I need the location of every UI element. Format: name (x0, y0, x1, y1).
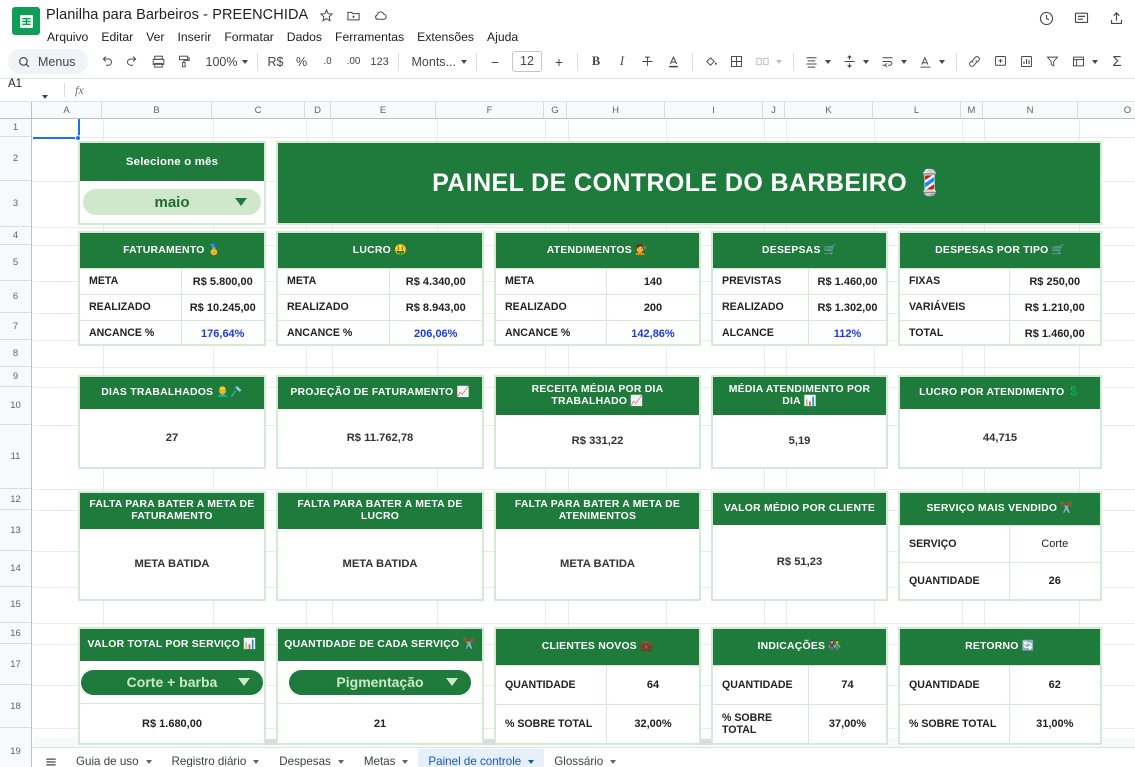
row-value: 140 (607, 269, 699, 294)
sheet-tab-metas[interactable]: Metas (354, 749, 419, 767)
card-despesas-por-tipo: DESPESAS POR TIPO 🛒 FIXASR$ 250,00 VARIÁ… (898, 231, 1102, 346)
chevron-down-icon[interactable] (42, 95, 48, 99)
card-value: R$ 11.762,78 (278, 409, 482, 467)
strikethrough-icon[interactable] (635, 49, 661, 75)
vertical-align-icon[interactable] (837, 49, 863, 75)
move-to-folder-icon[interactable] (345, 7, 362, 24)
card-title: LUCRO POR ATENDIMENTO 💲 (900, 377, 1100, 409)
dashboard-banner: PAINEL DE CONTROLE DO BARBEIRO 💈 (276, 141, 1102, 225)
card-title: FALTA PARA BATER A META DE FATURAMENTO (80, 493, 264, 529)
chevron-down-icon (238, 678, 250, 686)
column-header-O[interactable]: O (1078, 102, 1135, 118)
redo-icon[interactable] (120, 49, 146, 75)
filterviews-chevron-down-icon[interactable] (1092, 60, 1098, 64)
row-label: REALIZADO (278, 295, 390, 320)
card-title: DESPESAS POR TIPO 🛒 (900, 233, 1100, 268)
font-family-value: Monts... (412, 55, 456, 69)
row-value: 62 (1010, 666, 1101, 704)
row-label: VARIÁVEIS (900, 295, 1010, 320)
row-value: R$ 1.460,00 (809, 269, 886, 294)
row-value: 176,64% (182, 321, 265, 346)
row-label: PREVISTAS (713, 269, 809, 294)
chevron-down-icon[interactable] (528, 760, 534, 764)
card-projecao-faturamento: PROJEÇÃO DE FATURAMENTO 📈 R$ 11.762,78 (276, 375, 484, 469)
card-title: LUCRO 🤑 (278, 233, 482, 268)
selection-edge (33, 137, 78, 139)
font-size-value[interactable]: 12 (512, 51, 542, 72)
tab-label: Glossário (554, 755, 603, 767)
menu-dados[interactable]: Dados (287, 30, 322, 44)
card-title: DESEPSAS 🛒 (713, 233, 886, 268)
toolbar-divider-4 (577, 53, 578, 71)
card-value: META BATIDA (496, 529, 699, 599)
card-value: META BATIDA (80, 529, 264, 599)
row-label: QUANTIDADE (496, 666, 607, 704)
zoom-selector[interactable]: 100% (198, 55, 252, 69)
row-header-5[interactable]: 5 (0, 245, 31, 281)
font-size-increase-button[interactable]: + (546, 49, 572, 75)
insert-comment-icon[interactable] (988, 49, 1014, 75)
row-header-10[interactable]: 10 (0, 387, 31, 425)
menu-extensoes[interactable]: Extensões (417, 30, 474, 44)
card-title: CLIENTES NOVOS 💼 (496, 629, 699, 665)
service-selector-row: Corte + barba (80, 661, 264, 703)
row-header-8[interactable]: 8 (0, 340, 31, 367)
menus-label: Menus (38, 55, 76, 69)
card-indicacoes: INDICAÇÕES 👫 QUANTIDADE74 % SOBRE TOTAL3… (711, 627, 888, 745)
menu-arquivo[interactable]: Arquivo (47, 30, 88, 44)
menu-bar[interactable]: Arquivo Editar Ver Inserir Formatar Dado… (46, 30, 518, 44)
row-header-15[interactable]: 15 (0, 587, 31, 623)
column-header-M[interactable]: M (961, 102, 983, 118)
row-label: META (80, 269, 182, 294)
grid-body: 1 2 3 4 5 6 7 8 9 10 11 12 13 14 15 16 1… (0, 119, 1135, 747)
menus-search-button[interactable]: Menus (8, 49, 88, 74)
bold-button[interactable]: B (583, 49, 609, 75)
halign-chevron-down-icon[interactable] (825, 60, 831, 64)
tab-label: Painel de controle (428, 755, 521, 767)
more-formats-button[interactable]: 123 (367, 49, 393, 75)
tab-label: Registro diário (172, 755, 247, 767)
row-label: META (496, 269, 607, 294)
increase-decimal-button[interactable]: .00 (341, 49, 367, 75)
card-title: FATURAMENTO 🏅 (80, 233, 264, 268)
row-header-12[interactable]: 12 (0, 489, 31, 510)
row-value: 32,00% (607, 705, 699, 743)
row-header-1[interactable]: 1 (0, 119, 31, 137)
card-title: QUANTIDADE DE CADA SERVIÇO ✂️ (278, 629, 482, 661)
row-header-2[interactable]: 2 (0, 137, 31, 181)
card-falta-meta-faturamento: FALTA PARA BATER A META DE FATURAMENTO M… (78, 491, 266, 601)
name-box-value: A1 (8, 78, 22, 90)
toolbar-divider-3 (476, 53, 477, 71)
font-family-selector[interactable]: Monts... (404, 55, 471, 69)
sheet-tab-despesas[interactable]: Despesas (269, 749, 354, 767)
row-header-18[interactable]: 18 (0, 685, 31, 728)
card-title: FALTA PARA BATER A META DE LUCRO (278, 493, 482, 529)
row-label: TOTAL (900, 321, 1010, 346)
card-faturamento: FATURAMENTO 🏅 METAR$ 5.800,00 REALIZADOR… (78, 231, 266, 346)
italic-button[interactable]: I (609, 49, 635, 75)
borders-icon[interactable] (724, 49, 750, 75)
menu-editar[interactable]: Editar (101, 30, 133, 44)
row-value: 112% (809, 321, 886, 346)
share-icon[interactable] (1108, 10, 1125, 27)
card-title: DIAS TRABALHADOS 👨‍🦲🪒 (80, 377, 264, 409)
card-value: 44,715 (900, 409, 1100, 467)
card-title: MÉDIA ATENDIMENTO POR DIA 📊 (713, 377, 886, 415)
tab-label: Despesas (279, 755, 331, 767)
google-sheets-logo[interactable] (12, 7, 40, 35)
column-header-B[interactable]: B (102, 102, 212, 118)
column-headers: A B C D E F G H I J K L M N O P (0, 102, 1135, 119)
sheet-tab-registro-diario[interactable]: Registro diário (162, 749, 270, 767)
name-box[interactable]: A1 (0, 78, 64, 102)
row-value: R$ 5.800,00 (182, 269, 265, 294)
increase-decimal-label: .00 (347, 56, 361, 67)
month-value: maio (154, 194, 189, 211)
row-value: R$ 1.302,00 (809, 295, 886, 320)
card-title: RETORNO 🔄 (900, 629, 1100, 665)
card-quantidade-cada-servico: QUANTIDADE DE CADA SERVIÇO ✂️ Pigmentaçã… (276, 627, 484, 745)
format-currency-button[interactable]: R$ (263, 49, 289, 75)
card-title: VALOR MÉDIO POR CLIENTE (713, 493, 886, 525)
row-label: SERVIÇO (900, 526, 1010, 562)
row-value: R$ 10.245,00 (182, 295, 265, 320)
document-title[interactable]: Planilha para Barbeiros - PREENCHIDA (46, 7, 308, 23)
toolbar-divider-6 (793, 53, 794, 71)
card-value: R$ 51,23 (713, 525, 886, 599)
sheet-tab-guia-de-uso[interactable]: Guia de uso (66, 749, 162, 767)
selection-handle[interactable] (75, 135, 81, 141)
rotation-chevron-down-icon[interactable] (939, 60, 945, 64)
column-header-C[interactable]: C (212, 102, 305, 118)
row-header-7[interactable]: 7 (0, 313, 31, 340)
card-media-atendimento-dia: MÉDIA ATENDIMENTO POR DIA 📊 5,19 (711, 375, 888, 469)
month-selector-card: Selecione o mês maio (78, 141, 266, 225)
month-selector-body: maio (80, 181, 264, 223)
menu-ferramentas[interactable]: Ferramentas (335, 30, 404, 44)
card-receita-media-dia: RECEITA MÉDIA POR DIA TRABALHADO 📈 R$ 33… (494, 375, 701, 469)
menu-formatar[interactable]: Formatar (224, 30, 273, 44)
row-headers: 1 2 3 4 5 6 7 8 9 10 11 12 13 14 15 16 1… (0, 119, 32, 767)
row-label: REALIZADO (80, 295, 182, 320)
card-title: FALTA PARA BATER A META DE ATENIMENTOS (496, 493, 699, 529)
row-value: R$ 1.460,00 (1010, 321, 1101, 346)
merge-cells-icon[interactable] (750, 49, 776, 75)
row-header-9[interactable]: 9 (0, 367, 31, 387)
menu-inserir[interactable]: Inserir (177, 30, 211, 44)
select-all-corner[interactable] (0, 102, 32, 118)
card-retorno: RETORNO 🔄 QUANTIDADE62 % SOBRE TOTAL31,0… (898, 627, 1102, 745)
menu-ver[interactable]: Ver (146, 30, 164, 44)
row-header-17[interactable]: 17 (0, 644, 31, 685)
decrease-decimal-button[interactable]: .0 (315, 49, 341, 75)
card-lucro-por-atendimento: LUCRO POR ATENDIMENTO 💲 44,715 (898, 375, 1102, 469)
toolbar-divider (257, 53, 258, 71)
all-sheets-icon[interactable] (36, 749, 66, 767)
row-label: ANCANCE % (496, 321, 607, 346)
card-dias-trabalhados: DIAS TRABALHADOS 👨‍🦲🪒 27 (78, 375, 266, 469)
row-header-13[interactable]: 13 (0, 510, 31, 551)
filter-icon[interactable] (1040, 49, 1066, 75)
service-value: Corte + barba (127, 674, 218, 690)
chevron-down-icon[interactable] (402, 760, 408, 764)
row-header-4[interactable]: 4 (0, 227, 31, 245)
row-value: Corte (1010, 526, 1101, 562)
top-right-actions (1038, 10, 1125, 27)
card-title: PROJEÇÃO DE FATURAMENTO 📈 (278, 377, 482, 409)
row-value: R$ 8.943,00 (390, 295, 483, 320)
row-label: QUANTIDADE (900, 666, 1010, 704)
row-value: R$ 4.340,00 (390, 269, 483, 294)
card-value: 5,19 (713, 415, 886, 467)
row-label: QUANTIDADE (900, 563, 1010, 599)
banner-title: PAINEL DE CONTROLE DO BARBEIRO 💈 (432, 169, 946, 198)
chevron-down-icon (235, 198, 247, 206)
row-value: 206,06% (390, 321, 483, 346)
card-value: R$ 1.680,00 (80, 704, 264, 743)
paint-format-icon[interactable] (172, 49, 198, 75)
row-value: 31,00% (1010, 705, 1101, 743)
row-label: ALCANCE (713, 321, 809, 346)
fill-color-icon[interactable] (698, 49, 724, 75)
horizontal-align-icon[interactable] (799, 49, 825, 75)
text-wrap-icon[interactable] (875, 49, 901, 75)
column-header-I[interactable]: I (665, 102, 763, 118)
card-title: RECEITA MÉDIA POR DIA TRABALHADO 📈 (496, 377, 699, 415)
row-label: META (278, 269, 390, 294)
row-value: R$ 250,00 (1010, 269, 1101, 294)
sheet-tab-glossario[interactable]: Glossário (544, 749, 626, 767)
row-label: % SOBRE TOTAL (496, 705, 607, 743)
insert-chart-icon[interactable] (1014, 49, 1040, 75)
card-clientes-novos: CLIENTES NOVOS 💼 QUANTIDADE64 % SOBRE TO… (494, 627, 701, 745)
chevron-down-icon[interactable] (146, 760, 152, 764)
column-header-A[interactable]: A (32, 102, 102, 118)
functions-button[interactable]: Σ (1104, 49, 1130, 75)
wrap-chevron-down-icon[interactable] (901, 60, 907, 64)
card-atendimentos: ATENDIMENTOS 💇 META140 REALIZADO200 ANCA… (494, 231, 701, 346)
row-header-14[interactable]: 14 (0, 551, 31, 587)
row-label: FIXAS (900, 269, 1010, 294)
decrease-decimal-label: .0 (323, 56, 331, 67)
row-header-19[interactable]: 19 (0, 728, 31, 767)
row-label: REALIZADO (713, 295, 809, 320)
formula-bar: A1 fx (0, 78, 1135, 102)
toolbar-divider-7 (956, 53, 957, 71)
row-label: REALIZADO (496, 295, 607, 320)
card-title: ATENDIMENTOS 💇 (496, 233, 699, 268)
card-value: 27 (80, 409, 264, 467)
font-size-stepper[interactable]: − 12 + (482, 49, 572, 75)
fx-icon: fx (65, 83, 94, 98)
chevron-down-icon (242, 60, 248, 64)
column-header-K[interactable]: K (785, 102, 873, 118)
row-header-11[interactable]: 11 (0, 425, 31, 489)
spreadsheet-grid: A B C D E F G H I J K L M N O P 1 2 3 4 … (0, 102, 1135, 747)
card-value: R$ 331,22 (496, 415, 699, 467)
column-header-F[interactable]: F (436, 102, 544, 118)
card-value: META BATIDA (278, 529, 482, 599)
month-dropdown[interactable]: maio (83, 189, 261, 215)
card-valor-medio-cliente: VALOR MÉDIO POR CLIENTE R$ 51,23 (711, 491, 888, 601)
sheet-tab-bar: + Guia de uso Registro diário Despesas M… (0, 747, 1135, 767)
tab-label: Guia de uso (76, 755, 139, 767)
card-title: INDICAÇÕES 👫 (713, 629, 886, 665)
version-history-icon[interactable] (1038, 10, 1055, 27)
card-valor-total-por-servico: VALOR TOTAL POR SERVIÇO 📊 Corte + barba … (78, 627, 266, 745)
row-label: % SOBRE TOTAL (713, 705, 809, 743)
row-value: R$ 1.210,00 (1010, 295, 1101, 320)
column-header-D[interactable]: D (305, 102, 331, 118)
font-size-decrease-button[interactable]: − (482, 49, 508, 75)
valign-chevron-down-icon[interactable] (863, 60, 869, 64)
zoom-value: 100% (206, 55, 238, 69)
card-lucro: LUCRO 🤑 METAR$ 4.340,00 REALIZADOR$ 8.94… (276, 231, 484, 346)
service-dropdown[interactable]: Corte + barba (81, 670, 263, 695)
chevron-down-icon (461, 60, 467, 64)
column-header-H[interactable]: H (567, 102, 665, 118)
chevron-down-icon (446, 678, 458, 686)
merge-chevron-down-icon[interactable] (776, 60, 782, 64)
card-falta-meta-lucro: FALTA PARA BATER A META DE LUCRO META BA… (276, 491, 484, 601)
row-label: % SOBRE TOTAL (900, 705, 1010, 743)
format-percent-button[interactable]: % (289, 49, 315, 75)
text-rotation-icon[interactable] (913, 49, 939, 75)
row-value: 142,86% (607, 321, 699, 346)
month-selector-title: Selecione o mês (80, 143, 264, 181)
service-selector-row: Pigmentação (278, 661, 482, 703)
row-label: ANCANCE % (80, 321, 182, 346)
chevron-down-icon[interactable] (338, 760, 344, 764)
tab-label: Metas (364, 755, 396, 767)
row-label: QUANTIDADE (713, 666, 809, 704)
column-header-J[interactable]: J (763, 102, 785, 118)
search-icon (17, 55, 31, 69)
row-header-3[interactable]: 3 (0, 181, 31, 227)
row-label: ANCANCE % (278, 321, 390, 346)
card-title: VALOR TOTAL POR SERVIÇO 📊 (80, 629, 264, 661)
toolbar-divider-5 (692, 53, 693, 71)
toolbar: Menus 100% R$ % .0 .00 123 Monts... − 12… (0, 45, 1135, 78)
insert-link-icon[interactable] (962, 49, 988, 75)
card-value: 21 (278, 704, 482, 743)
service-value: Pigmentação (336, 674, 423, 690)
row-header-6[interactable]: 6 (0, 281, 31, 313)
print-icon[interactable] (146, 49, 172, 75)
cloud-saved-icon[interactable] (372, 7, 389, 24)
card-falta-meta-atenimentos: FALTA PARA BATER A META DE ATENIMENTOS M… (494, 491, 701, 601)
comment-icon[interactable] (1073, 10, 1090, 27)
filter-views-icon[interactable] (1066, 49, 1092, 75)
column-header-G[interactable]: G (544, 102, 567, 118)
toolbar-divider-2 (398, 53, 399, 71)
sheet-tab-painel-de-controle[interactable]: Painel de controle (418, 749, 544, 767)
column-header-N[interactable]: N (983, 102, 1078, 118)
row-value: 200 (607, 295, 699, 320)
chevron-down-icon[interactable] (610, 760, 616, 764)
column-header-E[interactable]: E (331, 102, 436, 118)
title-bar: Planilha para Barbeiros - PREENCHIDA Arq… (0, 0, 1135, 45)
column-header-L[interactable]: L (873, 102, 961, 118)
menu-ajuda[interactable]: Ajuda (487, 30, 518, 44)
row-header-16[interactable]: 16 (0, 623, 31, 644)
text-color-icon[interactable] (661, 49, 687, 75)
card-servico-mais-vendido: SERVIÇO MAIS VENDIDO ✂️ SERVIÇOCorte QUA… (898, 491, 1102, 601)
undo-icon[interactable] (94, 49, 120, 75)
row-value: 26 (1010, 563, 1101, 599)
chevron-down-icon[interactable] (253, 760, 259, 764)
star-icon[interactable] (318, 7, 335, 24)
service-dropdown[interactable]: Pigmentação (289, 670, 471, 695)
row-value: 37,00% (809, 705, 886, 743)
row-value: 64 (607, 666, 699, 704)
card-desepsas: DESEPSAS 🛒 PREVISTASR$ 1.460,00 REALIZAD… (711, 231, 888, 346)
row-value: 74 (809, 666, 886, 704)
card-title: SERVIÇO MAIS VENDIDO ✂️ (900, 493, 1100, 525)
